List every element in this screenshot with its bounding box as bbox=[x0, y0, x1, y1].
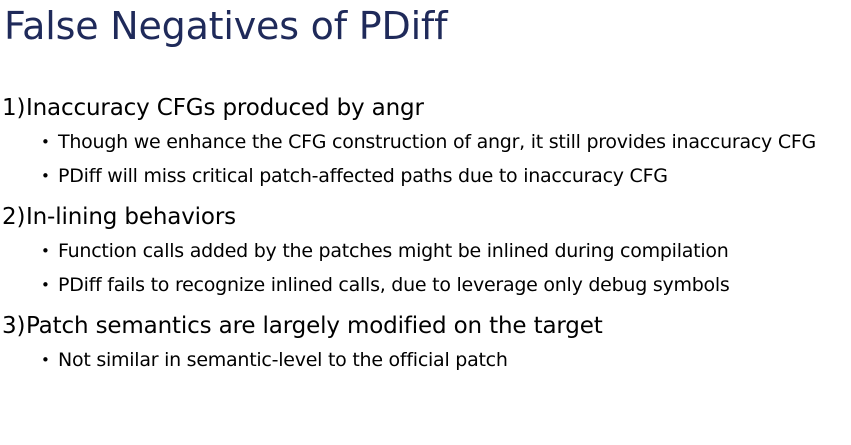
list-marker: 1) bbox=[2, 92, 25, 125]
content-body: 1) Inaccuracy CFGs produced by angr • Th… bbox=[0, 92, 851, 373]
list-item: 1) Inaccuracy CFGs produced by angr • Th… bbox=[0, 92, 851, 189]
bullet-dot-icon: • bbox=[41, 163, 50, 189]
sub-bullet-list: • Not similar in semantic-level to the o… bbox=[0, 347, 851, 373]
list-marker: 2) bbox=[2, 201, 25, 234]
sub-bullet-text: Function calls added by the patches migh… bbox=[58, 240, 729, 262]
page-title: False Negatives of PDiff bbox=[4, 3, 844, 49]
numbered-item-heading: 3) Patch semantics are largely modified … bbox=[0, 310, 851, 343]
list-marker: 3) bbox=[2, 310, 25, 343]
bullet-dot-icon: • bbox=[41, 272, 50, 298]
sub-bullet-item: • Though we enhance the CFG construction… bbox=[0, 129, 851, 155]
sub-bullet-item: • Function calls added by the patches mi… bbox=[0, 238, 851, 264]
sub-bullet-list: • Function calls added by the patches mi… bbox=[0, 238, 851, 298]
numbered-item-heading: 2) In-lining behaviors bbox=[0, 201, 851, 234]
bullet-dot-icon: • bbox=[41, 238, 50, 264]
sub-bullet-text: PDiff fails to recognize inlined calls, … bbox=[58, 274, 730, 296]
sub-bullet-item: • PDiff will miss critical patch-affecte… bbox=[0, 163, 851, 189]
numbered-item-text: Patch semantics are largely modified on … bbox=[26, 313, 603, 339]
sub-bullet-item: • Not similar in semantic-level to the o… bbox=[0, 347, 851, 373]
slide-canvas: False Negatives of PDiff 1) Inaccuracy C… bbox=[0, 0, 851, 445]
numbered-item-text: Inaccuracy CFGs produced by angr bbox=[26, 95, 424, 121]
sub-bullet-text: PDiff will miss critical patch-affected … bbox=[58, 165, 668, 187]
list-item: 3) Patch semantics are largely modified … bbox=[0, 310, 851, 373]
bullet-dot-icon: • bbox=[41, 347, 50, 373]
bullet-dot-icon: • bbox=[41, 129, 50, 155]
sub-bullet-text: Though we enhance the CFG construction o… bbox=[58, 131, 816, 153]
sub-bullet-list: • Though we enhance the CFG construction… bbox=[0, 129, 851, 189]
numbered-item-heading: 1) Inaccuracy CFGs produced by angr bbox=[0, 92, 851, 125]
sub-bullet-item: • PDiff fails to recognize inlined calls… bbox=[0, 272, 851, 298]
numbered-item-text: In-lining behaviors bbox=[26, 204, 236, 230]
sub-bullet-text: Not similar in semantic-level to the off… bbox=[58, 349, 508, 371]
list-item: 2) In-lining behaviors • Function calls … bbox=[0, 201, 851, 298]
